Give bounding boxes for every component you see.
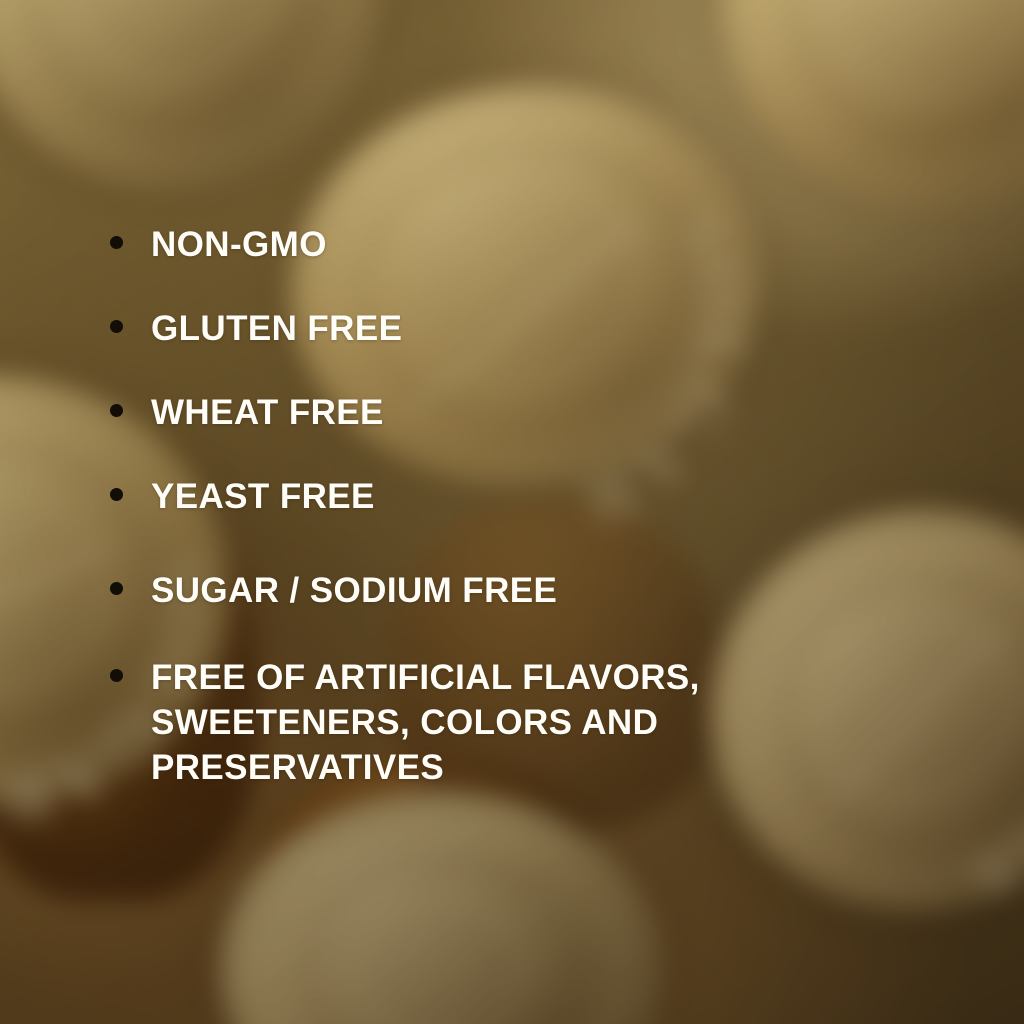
benefit-label: GLUTEN FREE — [151, 306, 402, 351]
bullet-dot-icon — [110, 488, 123, 501]
list-item: FREE OF ARTIFICIAL FLAVORS, SWEETENERS, … — [110, 655, 700, 790]
list-item: GLUTEN FREE — [110, 306, 402, 351]
bullet-dot-icon — [110, 404, 123, 417]
benefit-label: FREE OF ARTIFICIAL FLAVORS, SWEETENERS, … — [151, 655, 700, 790]
list-item: SUGAR / SODIUM FREE — [110, 568, 557, 613]
list-item: WHEAT FREE — [110, 390, 384, 435]
bullet-dot-icon — [110, 669, 123, 682]
list-item: YEAST FREE — [110, 474, 375, 519]
benefit-label: SUGAR / SODIUM FREE — [151, 568, 557, 613]
bullet-dot-icon — [110, 236, 123, 249]
bullet-dot-icon — [110, 582, 123, 595]
benefit-label: YEAST FREE — [151, 474, 375, 519]
list-item: NON-GMO — [110, 222, 327, 267]
benefit-card: SOLGAR SOLGAR SOLGAR — [0, 0, 1024, 1024]
bullet-dot-icon — [110, 320, 123, 333]
benefit-label: NON-GMO — [151, 222, 327, 267]
benefit-label: WHEAT FREE — [151, 390, 384, 435]
